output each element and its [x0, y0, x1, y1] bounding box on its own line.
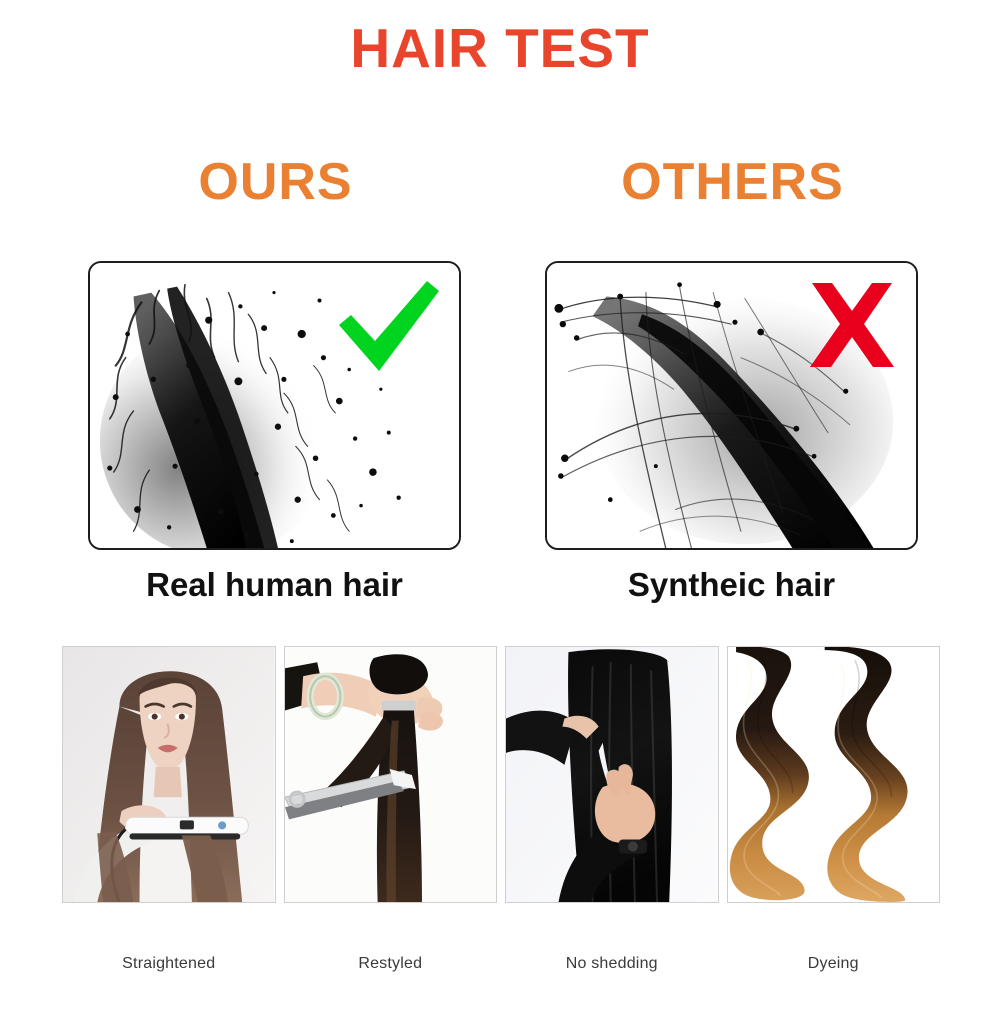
comparison-panel-others	[545, 261, 918, 550]
gallery-photo-straightened[interactable]	[62, 646, 276, 903]
check-mark-icon	[335, 279, 443, 377]
gallery-label-no-shedding: No shedding	[505, 955, 719, 973]
page-title: HAIR TEST	[0, 18, 1000, 79]
comparison-panel-ours	[88, 261, 461, 550]
gallery-strip	[62, 646, 940, 903]
column-heading-ours: OURS	[88, 152, 463, 212]
caption-synthetic-hair: Syntheic hair	[545, 566, 918, 604]
gallery-label-restyled: Restyled	[284, 955, 498, 973]
gallery-photo-restyled[interactable]	[284, 646, 498, 903]
caption-real-human-hair: Real human hair	[88, 566, 461, 604]
gallery-photo-dyeing[interactable]	[727, 646, 941, 903]
cross-mark-icon	[806, 279, 898, 371]
column-heading-others: OTHERS	[545, 152, 920, 212]
gallery-label-straightened: Straightened	[62, 955, 276, 973]
gallery-photo-no-shedding[interactable]	[505, 646, 719, 903]
gallery-label-dyeing: Dyeing	[727, 955, 941, 973]
gallery-labels: Straightened Restyled No shedding Dyeing	[62, 955, 940, 973]
